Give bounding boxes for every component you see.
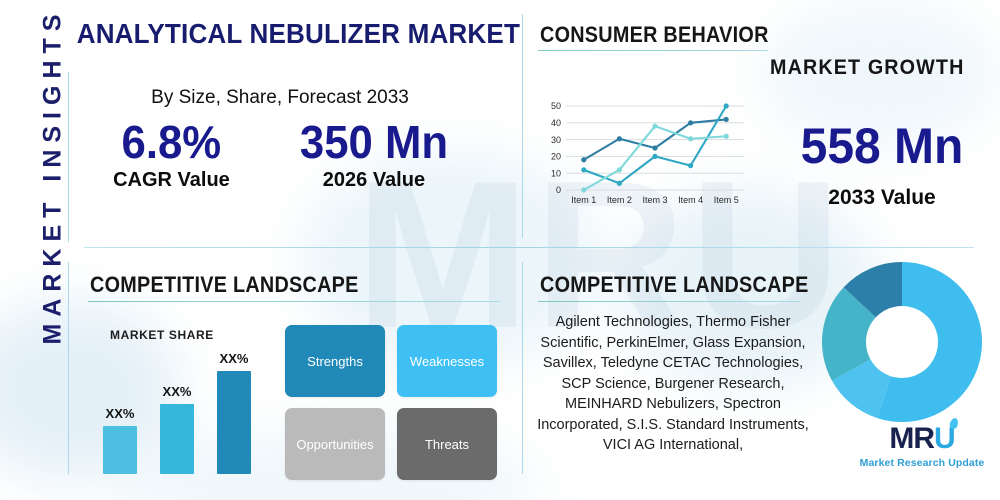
infographic-canvas: MRU MARKET INSIGHTS ANALYTICAL NEBULIZER… bbox=[0, 0, 1000, 500]
market-growth-heading: MARKET GROWTH bbox=[770, 56, 965, 80]
logo-mark-dark: MR bbox=[889, 422, 934, 455]
swot-weaknesses[interactable]: Weaknesses bbox=[397, 325, 497, 397]
svg-text:Item 1: Item 1 bbox=[571, 195, 596, 205]
kpi-cagr: 6.8% CAGR Value bbox=[113, 118, 230, 192]
bar-item: XX% bbox=[160, 384, 194, 474]
side-label-market-insights: MARKET INSIGHTS bbox=[39, 15, 68, 345]
bar bbox=[160, 404, 194, 474]
svg-text:Item 3: Item 3 bbox=[642, 195, 667, 205]
bar-item: XX% bbox=[103, 406, 137, 474]
market-growth-value: 558 Mn bbox=[776, 120, 987, 172]
swot-grid: StrengthsWeaknessesOpportunitiesThreats bbox=[285, 325, 497, 480]
section-heading-competitive-landscape-left: COMPETITIVE LANDSCAPE bbox=[90, 272, 359, 298]
kpi-2026-value: 350 Mn bbox=[300, 118, 448, 167]
divider-vertical-left-bottom bbox=[68, 262, 69, 474]
swot-strengths[interactable]: Strengths bbox=[285, 325, 385, 397]
brand-logo: MRU Market Research Update bbox=[852, 424, 992, 469]
competitor-list: Agilent Technologies, Thermo Fisher Scie… bbox=[537, 312, 809, 456]
bar-value-label: XX% bbox=[217, 351, 251, 366]
bar-item: XX% bbox=[217, 351, 251, 474]
section-heading-consumer-behavior: CONSUMER BEHAVIOR bbox=[540, 22, 769, 48]
kpi-2026-label: 2026 Value bbox=[296, 169, 452, 192]
line-chart: 01020304050Item 1Item 2Item 3Item 4Item … bbox=[536, 98, 748, 218]
page-title: ANALYTICAL NEBULIZER MARKET bbox=[77, 18, 468, 50]
page-subtitle: By Size, Share, Forecast 2033 bbox=[80, 87, 480, 109]
line-chart-svg: 01020304050Item 1Item 2Item 3Item 4Item … bbox=[536, 98, 748, 218]
section-heading-competitive-landscape-right: COMPETITIVE LANDSCAPE bbox=[540, 272, 809, 298]
kpi-2026: 350 Mn 2026 Value bbox=[296, 118, 452, 192]
bar-chart: XX%XX%XX% bbox=[103, 344, 278, 474]
svg-text:40: 40 bbox=[551, 118, 561, 128]
divider-horizontal bbox=[84, 247, 974, 248]
market-growth-label: 2033 Value bbox=[772, 186, 992, 210]
bar bbox=[103, 426, 137, 474]
svg-text:10: 10 bbox=[551, 168, 561, 178]
swot-threats[interactable]: Threats bbox=[397, 408, 497, 480]
svg-text:50: 50 bbox=[551, 101, 561, 111]
logo-tagline: Market Research Update bbox=[852, 457, 992, 469]
divider-vertical-middle-bottom bbox=[522, 262, 523, 474]
svg-text:20: 20 bbox=[551, 152, 561, 162]
svg-text:30: 30 bbox=[551, 135, 561, 145]
svg-text:Item 2: Item 2 bbox=[607, 195, 632, 205]
bar-value-label: XX% bbox=[160, 384, 194, 399]
donut-chart bbox=[822, 262, 982, 422]
section-heading-underline bbox=[88, 301, 500, 302]
bar-chart-title: MARKET SHARE bbox=[110, 328, 214, 342]
svg-text:0: 0 bbox=[556, 185, 561, 195]
bar-value-label: XX% bbox=[103, 406, 137, 421]
swot-opportunities[interactable]: Opportunities bbox=[285, 408, 385, 480]
kpi-cagr-label: CAGR Value bbox=[113, 169, 230, 192]
divider-vertical-left-top bbox=[68, 72, 69, 242]
bar bbox=[217, 371, 251, 474]
section-heading-underline bbox=[538, 301, 800, 302]
svg-text:Item 5: Item 5 bbox=[714, 195, 739, 205]
kpi-cagr-value: 6.8% bbox=[116, 118, 227, 167]
logo-wordmark: MRU bbox=[889, 424, 954, 454]
kpi-row: 6.8% CAGR Value 350 Mn 2026 Value bbox=[80, 118, 485, 192]
section-heading-underline bbox=[538, 50, 768, 51]
divider-vertical-middle-top bbox=[522, 14, 523, 238]
donut-hole bbox=[866, 306, 938, 378]
svg-text:Item 4: Item 4 bbox=[678, 195, 703, 205]
